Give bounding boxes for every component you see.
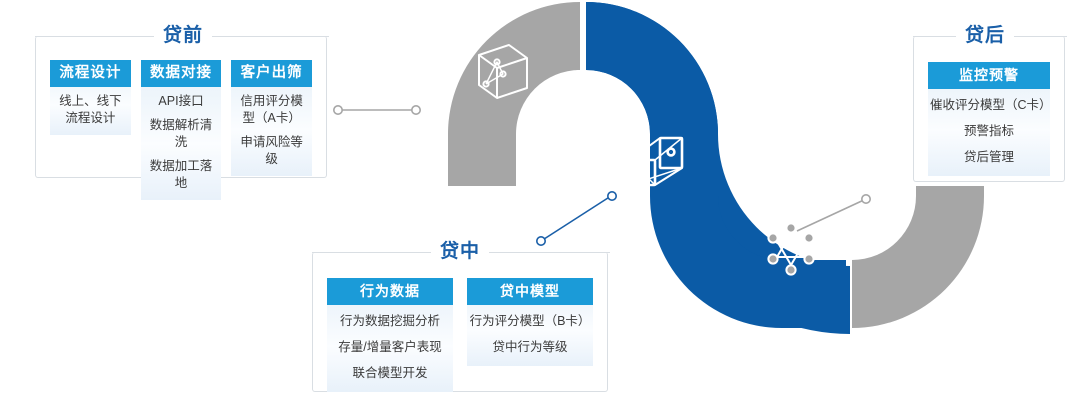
connector-mid bbox=[537, 192, 616, 245]
card-header: 贷中模型 bbox=[467, 278, 593, 305]
stage-panel-pre-loan: 贷前 流程设计 线上、线下 流程设计 数据对接 API接口 数据解析清洗 数据加… bbox=[35, 36, 327, 178]
card-body: 线上、线下 流程设计 bbox=[50, 87, 131, 135]
card-monitoring-alert[interactable]: 监控预警 催收评分模型（C卡） 预警指标 贷后管理 bbox=[928, 62, 1050, 176]
card-header: 流程设计 bbox=[50, 60, 131, 87]
card-line: 预警指标 bbox=[930, 123, 1048, 140]
panel-top-rule bbox=[489, 252, 610, 253]
card-header: 监控预警 bbox=[928, 62, 1050, 89]
card-body: 催收评分模型（C卡） 预警指标 贷后管理 bbox=[928, 89, 1050, 176]
card-group-post-loan: 监控预警 催收评分模型（C卡） 预警指标 贷后管理 bbox=[914, 36, 1064, 181]
card-line: 贷中行为等级 bbox=[469, 339, 591, 356]
card-body: API接口 数据解析清洗 数据加工落地 bbox=[141, 87, 222, 200]
card-line: 数据加工落地 bbox=[145, 158, 218, 192]
card-line: 贷后管理 bbox=[930, 149, 1048, 166]
card-during-loan-model[interactable]: 贷中模型 行为评分模型（B卡） 贷中行为等级 bbox=[467, 278, 593, 366]
card-header: 客户出筛 bbox=[231, 60, 312, 87]
card-body: 行为数据挖掘分析 存量/增量客户表现 联合模型开发 bbox=[327, 305, 453, 392]
panel-top-rule bbox=[913, 36, 956, 37]
panel-top-rule bbox=[312, 252, 431, 253]
panel-top-rule bbox=[35, 36, 154, 37]
card-body: 信用评分模 型（A卡） 申请风险等级 bbox=[231, 87, 312, 176]
stage-panel-post-loan: 贷后 监控预警 催收评分模型（C卡） 预警指标 贷后管理 bbox=[913, 36, 1065, 182]
card-process-design[interactable]: 流程设计 线上、线下 流程设计 bbox=[50, 60, 131, 135]
loan-lifecycle-diagram: 贷前 流程设计 线上、线下 流程设计 数据对接 API接口 数据解析清洗 数据加… bbox=[0, 0, 1080, 404]
card-data-integration[interactable]: 数据对接 API接口 数据解析清洗 数据加工落地 bbox=[141, 60, 222, 200]
panel-top-rule bbox=[1014, 36, 1067, 37]
card-behavior-data[interactable]: 行为数据 行为数据挖掘分析 存量/增量客户表现 联合模型开发 bbox=[327, 278, 453, 392]
card-line: API接口 bbox=[145, 93, 218, 110]
card-customer-screening[interactable]: 客户出筛 信用评分模 型（A卡） 申请风险等级 bbox=[231, 60, 312, 176]
panel-top-rule bbox=[212, 36, 329, 37]
card-line: 联合模型开发 bbox=[329, 365, 451, 382]
card-line: 线上、线下 流程设计 bbox=[54, 93, 127, 127]
card-body: 行为评分模型（B卡） 贷中行为等级 bbox=[467, 305, 593, 366]
card-group-pre-loan: 流程设计 线上、线下 流程设计 数据对接 API接口 数据解析清洗 数据加工落地… bbox=[36, 36, 326, 177]
connector-post bbox=[797, 195, 870, 231]
card-header: 数据对接 bbox=[141, 60, 222, 87]
card-line: 申请风险等级 bbox=[235, 134, 308, 168]
card-group-during-loan: 行为数据 行为数据挖掘分析 存量/增量客户表现 联合模型开发 贷中模型 行为评分… bbox=[313, 252, 607, 391]
card-line: 数据解析清洗 bbox=[145, 117, 218, 151]
card-header: 行为数据 bbox=[327, 278, 453, 305]
card-line: 存量/增量客户表现 bbox=[329, 339, 451, 356]
stage-panel-during-loan: 贷中 行为数据 行为数据挖掘分析 存量/增量客户表现 联合模型开发 贷中模型 行… bbox=[312, 252, 608, 392]
card-line: 信用评分模 型（A卡） bbox=[235, 93, 308, 127]
card-line: 催收评分模型（C卡） bbox=[930, 97, 1048, 114]
card-line: 行为评分模型（B卡） bbox=[469, 313, 591, 330]
connector-pre bbox=[334, 106, 420, 114]
card-line: 行为数据挖掘分析 bbox=[329, 313, 451, 330]
